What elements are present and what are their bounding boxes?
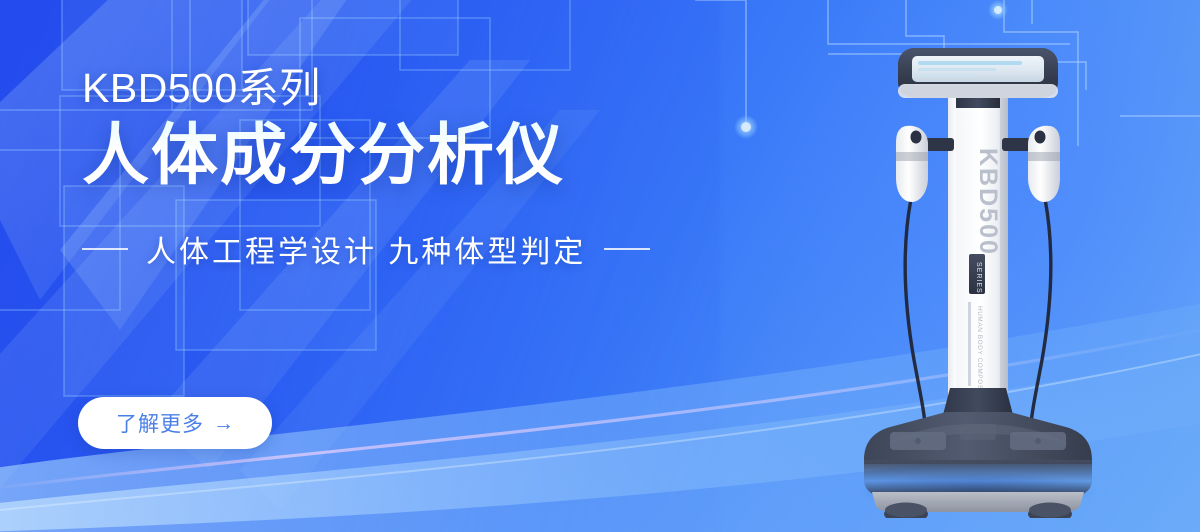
eyebrow-text: KBD500系列: [82, 66, 702, 112]
device-base-platform: [864, 412, 1092, 518]
banner-copy: KBD500系列 人体成分分析仪 人体工程学设计 九种体型判定: [82, 66, 702, 271]
learn-more-label: 了解更多: [116, 408, 204, 438]
subtitle-dash-left: [82, 248, 128, 250]
page-title: 人体成分分析仪: [82, 118, 702, 193]
device-series-badge: SERIES: [975, 262, 982, 294]
arrow-right-icon: →: [213, 413, 234, 434]
subtitle-text: 人体工程学设计 九种体型判定: [146, 227, 586, 271]
learn-more-button[interactable]: 了解更多 →: [78, 397, 272, 449]
product-banner: KBD500系列 人体成分分析仪 人体工程学设计 九种体型判定 了解更多 →: [0, 0, 1200, 532]
device-hand-electrode-left: [896, 126, 928, 202]
device-brand-label: KBD500: [974, 148, 1002, 256]
subtitle-dash-right: [604, 248, 650, 250]
product-image-kbd500: KBD500 SERIES HUMAN BODY COMPOSITION ANA…: [828, 40, 1128, 518]
device-hand-electrode-right: [1028, 126, 1060, 202]
subtitle-row: 人体工程学设计 九种体型判定: [82, 227, 702, 271]
